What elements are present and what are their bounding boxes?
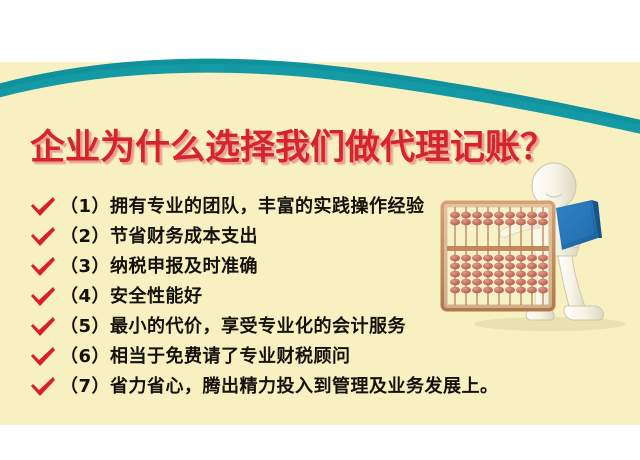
list-item-label: （2）节省财务成本支出 (60, 226, 258, 247)
check-mark-icon (30, 376, 56, 398)
list-item-label: （3）纳税申报及时准确 (60, 256, 258, 277)
list-item: （6）相当于免费请了专业财税顾问 (30, 342, 500, 372)
blue-book-icon (556, 200, 602, 250)
teal-arc-decoration (0, 0, 640, 140)
check-mark-icon (30, 346, 56, 368)
check-mark-icon (30, 196, 56, 218)
list-item-label: （7）省力省心，腾出精力投入到管理及业务发展上。 (60, 376, 499, 397)
list-item-label: （5）最小的代价，享受专业化的会计服务 (60, 316, 406, 337)
list-item: （7）省力省心，腾出精力投入到管理及业务发展上。 (30, 372, 500, 402)
accountant-with-abacus-illustration (430, 160, 640, 340)
list-item-label: （6）相当于免费请了专业财税顾问 (60, 346, 351, 367)
check-mark-icon (30, 256, 56, 278)
check-mark-icon (30, 316, 56, 338)
poster-canvas: 企业为什么选择我们做代理记账？ （1）拥有专业的团队，丰富的实践操作经验 （2）… (0, 0, 640, 460)
list-item-label: （4）安全性能好 (60, 286, 203, 307)
check-mark-icon (30, 226, 56, 248)
check-mark-icon (30, 286, 56, 308)
list-item-label: （1）拥有专业的团队，丰富的实践操作经验 (60, 196, 425, 217)
bottom-white-band (0, 425, 640, 460)
wooden-abacus-icon (444, 204, 552, 308)
illustration-svg (430, 160, 640, 340)
